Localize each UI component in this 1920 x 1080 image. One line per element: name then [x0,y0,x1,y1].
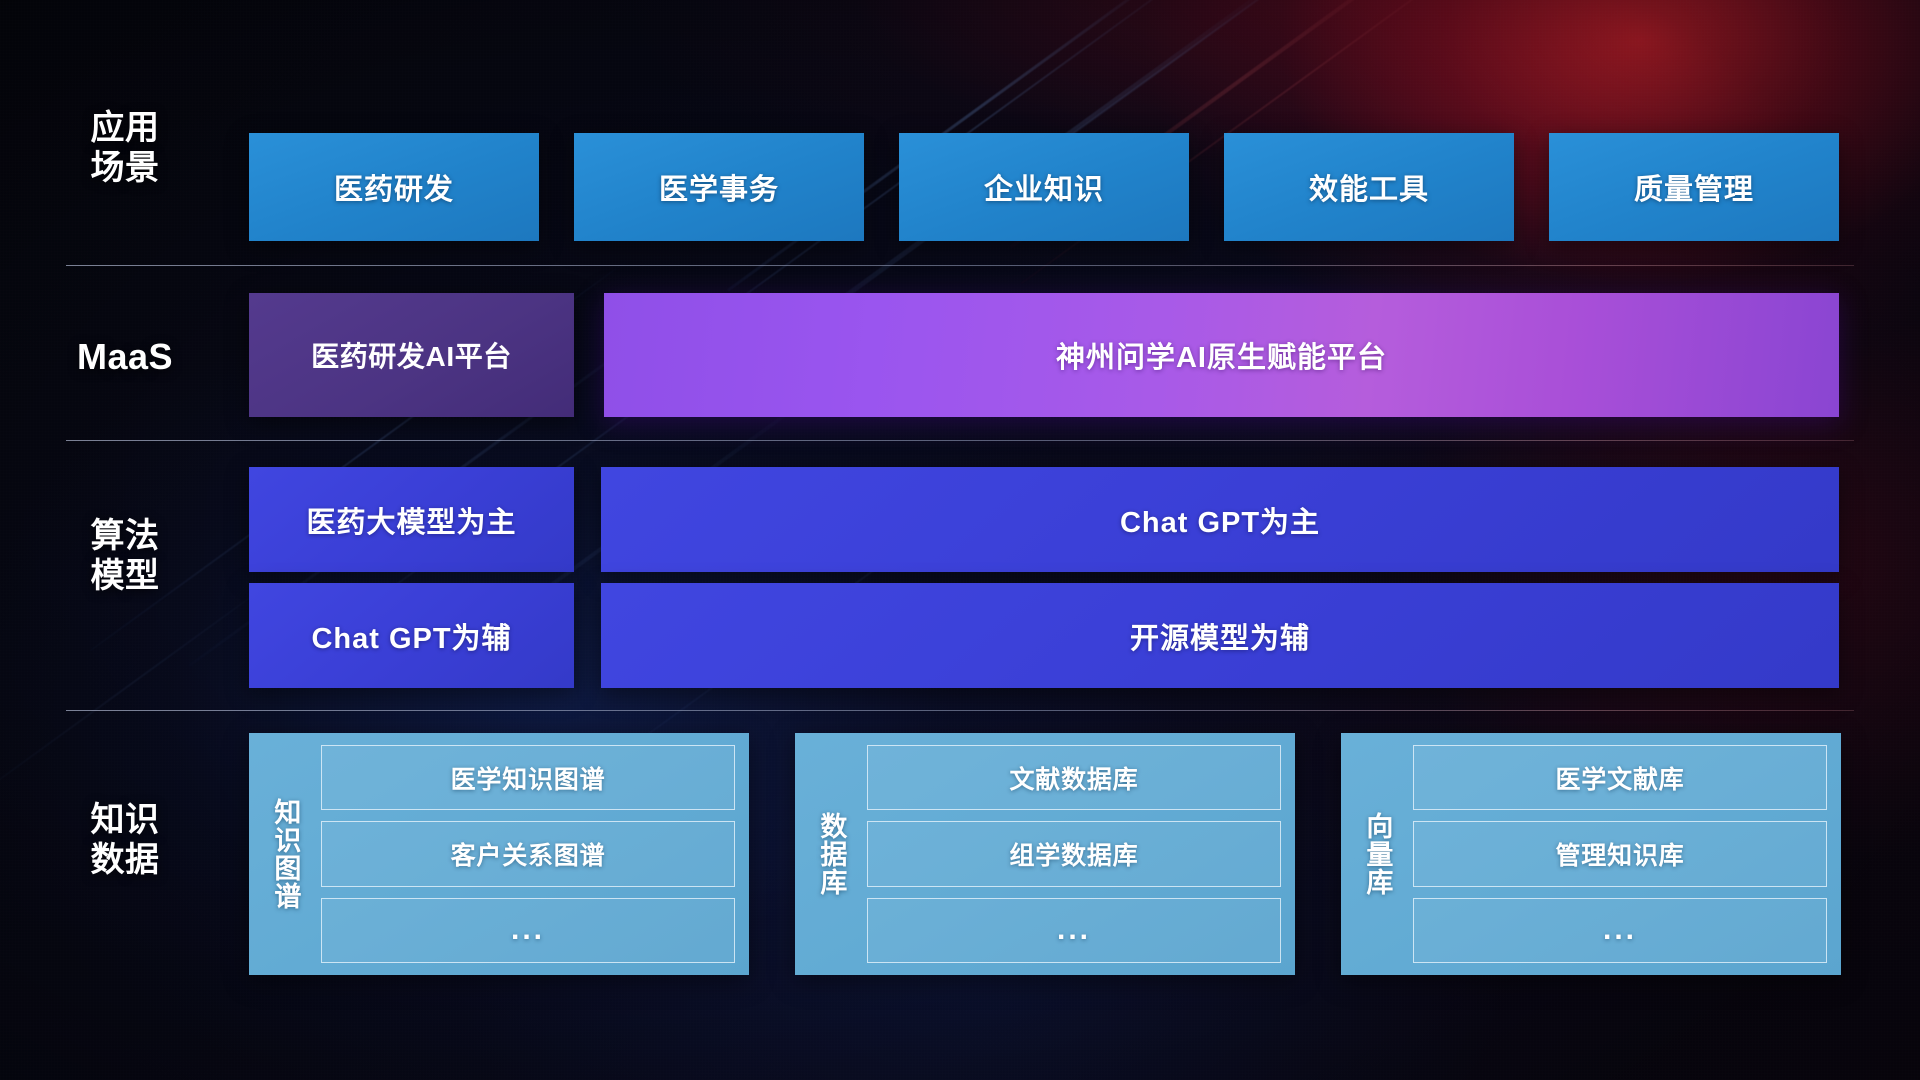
knowledge-panel-knowledge-graph-label: 知识图谱 [249,745,321,963]
scenario-box-1[interactable]: 医药研发 [249,133,539,241]
knowledge-panel-vector-store[interactable]: 向量库 医学文献库 管理知识库 ... [1341,733,1841,975]
knowledge-panel-database-items: 文献数据库 组学数据库 ... [867,745,1281,963]
algorithm-box-chatgpt-primary[interactable]: Chat GPT为主 [601,467,1839,572]
maas-box-shenzhou-platform[interactable]: 神州问学AI原生赋能平台 [604,293,1839,417]
scenario-box-2-label: 医学事务 [659,166,779,208]
knowledge-panel-knowledge-graph-items: 医学知识图谱 客户关系图谱 ... [321,745,735,963]
tier-label-knowledge-data: 知识 数据 [60,800,190,880]
maas-box-medical-ai-platform[interactable]: 医药研发AI平台 [249,293,574,417]
knowledge-item-more[interactable]: ... [1413,898,1827,963]
maas-box-medical-ai-platform-label: 医药研发AI平台 [311,335,512,375]
knowledge-panel-database[interactable]: 数据库 文献数据库 组学数据库 ... [795,733,1295,975]
divider-after-maas [66,440,1854,441]
knowledge-item-more[interactable]: ... [867,898,1281,963]
knowledge-item[interactable]: 组学数据库 [867,821,1281,886]
knowledge-panel-vector-store-items: 医学文献库 管理知识库 ... [1413,745,1827,963]
knowledge-item[interactable]: 客户关系图谱 [321,821,735,886]
knowledge-panel-vector-store-label: 向量库 [1341,745,1413,963]
algorithm-box-opensource-secondary-label: 开源模型为辅 [1130,615,1310,657]
divider-after-algorithm [66,710,1854,711]
knowledge-panel-knowledge-graph[interactable]: 知识图谱 医学知识图谱 客户关系图谱 ... [249,733,749,975]
algorithm-box-chatgpt-secondary[interactable]: Chat GPT为辅 [249,583,574,688]
scenario-box-5[interactable]: 质量管理 [1549,133,1839,241]
algorithm-box-chatgpt-primary-label: Chat GPT为主 [1120,499,1320,541]
scenario-box-1-label: 医药研发 [334,166,454,208]
tier-label-algorithm-model: 算法 模型 [60,516,190,596]
knowledge-item[interactable]: 医学知识图谱 [321,745,735,810]
tier-label-maas: MaaS [60,336,190,378]
scenario-box-3[interactable]: 企业知识 [899,133,1189,241]
scenario-box-2[interactable]: 医学事务 [574,133,864,241]
tier-label-application-scenarios: 应用 场景 [60,108,190,188]
scenario-box-3-label: 企业知识 [984,166,1104,208]
knowledge-item[interactable]: 管理知识库 [1413,821,1827,886]
algorithm-box-pharma-llm-primary[interactable]: 医药大模型为主 [249,467,574,572]
divider-after-scenarios [66,265,1854,266]
scenario-box-4-label: 效能工具 [1309,166,1429,208]
algorithm-box-opensource-secondary[interactable]: 开源模型为辅 [601,583,1839,688]
maas-box-shenzhou-platform-label: 神州问学AI原生赋能平台 [1056,334,1387,376]
knowledge-item[interactable]: 文献数据库 [867,745,1281,810]
scenario-box-5-label: 质量管理 [1634,166,1754,208]
scenario-box-4[interactable]: 效能工具 [1224,133,1514,241]
knowledge-item[interactable]: 医学文献库 [1413,745,1827,810]
knowledge-item-more[interactable]: ... [321,898,735,963]
algorithm-box-pharma-llm-primary-label: 医药大模型为主 [306,499,516,541]
algorithm-box-chatgpt-secondary-label: Chat GPT为辅 [311,615,511,657]
knowledge-panel-database-label: 数据库 [795,745,867,963]
